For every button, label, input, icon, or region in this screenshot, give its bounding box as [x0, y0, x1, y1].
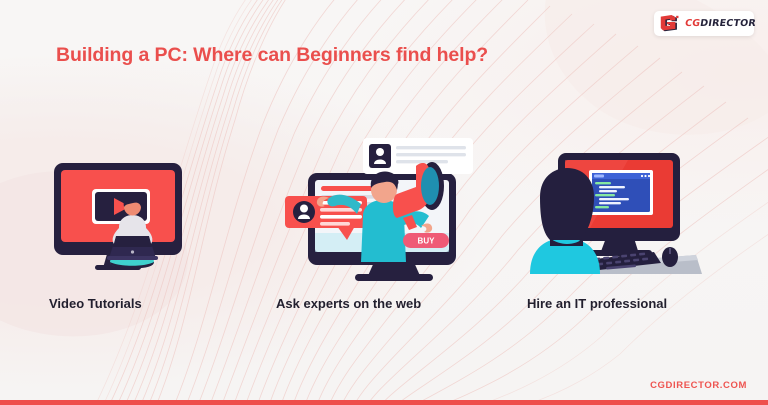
illustration-hire-it-professional — [520, 150, 750, 285]
brand-logo[interactable]: CGDIRECTOR — [654, 11, 754, 36]
caption-video-tutorials: Video Tutorials — [49, 296, 142, 311]
page-title: Building a PC: Where can Beginners find … — [56, 44, 488, 67]
infographic-canvas: CGDIRECTOR Building a PC: Where can Begi… — [0, 0, 768, 405]
footer-url[interactable]: CGDIRECTOR.COM — [650, 380, 747, 391]
mouse-icon — [662, 247, 678, 267]
logo-text-director: DIRECTOR — [699, 18, 756, 29]
buy-button: BUY — [403, 233, 449, 248]
code-window-icon — [589, 170, 653, 215]
bottom-accent-bar — [0, 400, 768, 405]
brand-logo-text: CGDIRECTOR — [684, 18, 757, 29]
caption-hire-it-professional: Hire an IT professional — [527, 296, 667, 311]
illustration-video-tutorials — [35, 150, 265, 285]
buy-button-label: BUY — [418, 237, 436, 246]
person-back-icon — [530, 168, 600, 274]
caption-ask-experts: Ask experts on the web — [276, 296, 421, 311]
illustration-ask-experts: BUY — [285, 138, 515, 288]
cgdirector-g-mark-icon — [660, 15, 680, 32]
